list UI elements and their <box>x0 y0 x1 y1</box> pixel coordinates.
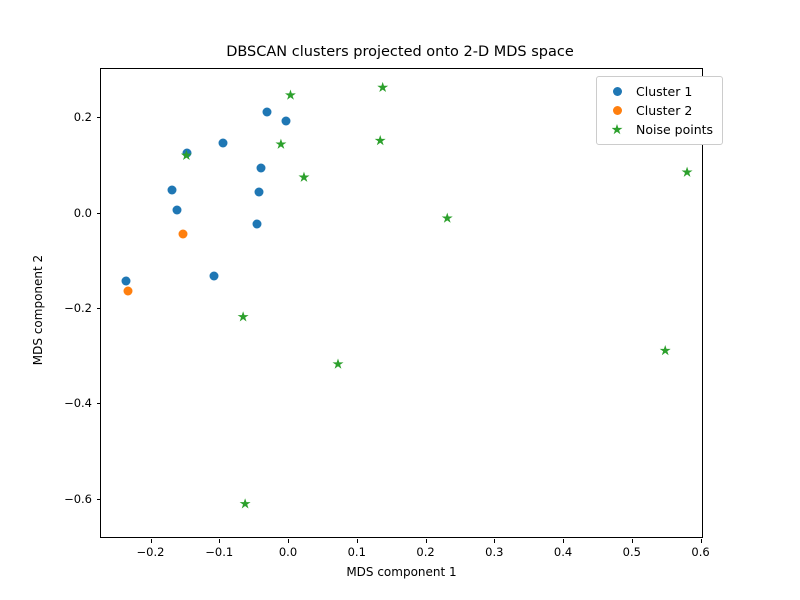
data-point-cluster-1 <box>263 108 272 117</box>
data-point-noise-points <box>375 135 386 146</box>
x-axis-tick <box>632 539 633 543</box>
y-axis-tick-label: −0.4 <box>64 396 92 410</box>
x-axis-tick-label: 0.5 <box>623 545 641 559</box>
x-axis-tick <box>219 539 220 543</box>
data-point-cluster-1 <box>209 272 218 281</box>
data-point-cluster-1 <box>281 116 290 125</box>
legend-item[interactable]: Cluster 2 <box>604 101 713 120</box>
legend-dot-icon <box>604 106 630 115</box>
y-axis-tick-label: −0.6 <box>64 492 92 506</box>
x-axis-tick <box>563 539 564 543</box>
legend-item[interactable]: Noise points <box>604 120 713 139</box>
x-axis-label: MDS component 1 <box>100 565 703 579</box>
y-axis-tick-label: −0.2 <box>64 301 92 315</box>
legend-item[interactable]: Cluster 1 <box>604 82 713 101</box>
legend-label: Cluster 2 <box>630 103 692 118</box>
data-point-cluster-1 <box>256 164 265 173</box>
x-axis-tick-label: 0.3 <box>485 545 503 559</box>
data-point-noise-points <box>442 213 453 224</box>
x-axis-tick <box>357 539 358 543</box>
data-point-cluster-1 <box>219 138 228 147</box>
y-axis-tick-label: 0.2 <box>74 110 92 124</box>
y-axis-tick <box>97 213 101 214</box>
data-point-cluster-1 <box>253 220 262 229</box>
x-axis-tick-label: 0.6 <box>691 545 709 559</box>
x-axis-tick <box>494 539 495 543</box>
x-axis-tick <box>426 539 427 543</box>
data-point-noise-points <box>333 358 344 369</box>
legend-dot-icon <box>604 87 630 96</box>
chart-legend: Cluster 1Cluster 2Noise points <box>596 76 723 145</box>
data-point-noise-points <box>660 345 671 356</box>
chart-figure: DBSCAN clusters projected onto 2-D MDS s… <box>0 0 800 600</box>
data-point-cluster-2 <box>124 287 133 296</box>
data-point-cluster-1 <box>255 187 264 196</box>
data-point-noise-points <box>682 167 693 178</box>
x-axis-tick-label: −0.1 <box>205 545 233 559</box>
data-point-noise-points <box>240 498 251 509</box>
legend-label: Noise points <box>630 122 713 137</box>
y-axis-label: MDS component 2 <box>31 75 45 545</box>
y-axis-tick <box>97 499 101 500</box>
x-axis-tick-label: 0.2 <box>416 545 434 559</box>
y-axis-tick <box>97 308 101 309</box>
y-axis-tick <box>97 403 101 404</box>
data-point-noise-points <box>298 172 309 183</box>
x-axis-tick <box>288 539 289 543</box>
x-axis-tick-label: 0.4 <box>554 545 572 559</box>
data-point-noise-points <box>285 90 296 101</box>
x-axis-tick-label: −0.2 <box>137 545 165 559</box>
y-axis-tick-label: 0.0 <box>74 206 92 220</box>
data-point-cluster-1 <box>122 277 131 286</box>
data-point-noise-points <box>377 82 388 93</box>
data-point-noise-points <box>238 311 249 322</box>
data-point-cluster-1 <box>168 186 177 195</box>
y-axis-tick <box>97 117 101 118</box>
x-axis-tick <box>151 539 152 543</box>
x-axis-tick-label: 0.1 <box>348 545 366 559</box>
chart-title: DBSCAN clusters projected onto 2-D MDS s… <box>0 44 800 60</box>
data-point-noise-points <box>275 139 286 150</box>
data-point-cluster-1 <box>173 206 182 215</box>
x-axis-tick <box>701 539 702 543</box>
legend-star-icon <box>604 124 630 135</box>
x-axis-tick-label: 0.0 <box>279 545 297 559</box>
legend-label: Cluster 1 <box>630 84 692 99</box>
data-point-cluster-2 <box>179 229 188 238</box>
